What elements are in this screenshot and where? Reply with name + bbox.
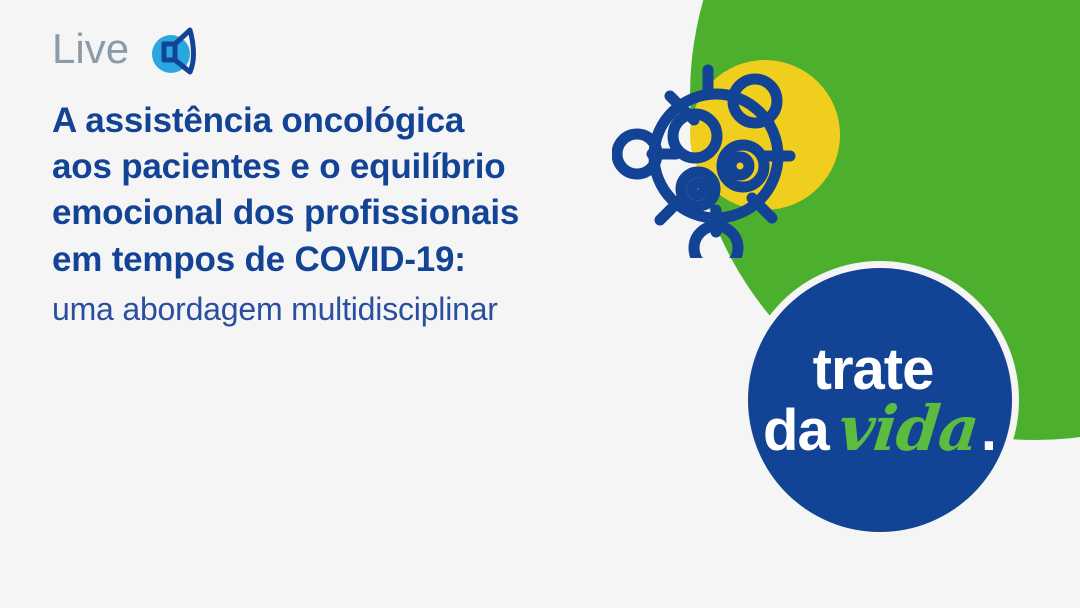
headline-line-1: A assistência oncológica xyxy=(52,98,652,144)
headline-line-3: emocional dos profissionais xyxy=(52,190,652,236)
promo-banner: trate da vida . Live A assistência oncol… xyxy=(0,0,1080,608)
logo-line-two: da vida . xyxy=(763,400,997,457)
live-label: Live xyxy=(52,28,129,70)
brand-logo: trate da vida . xyxy=(748,268,1012,532)
megaphone-icon xyxy=(145,20,203,78)
text-column: Live A assistência oncológica aos pacien… xyxy=(52,18,652,330)
page-subtitle: uma abordagem multidisciplinar xyxy=(52,289,652,331)
headline-line-2: aos pacientes e o equilíbrio xyxy=(52,144,652,190)
logo-period: . xyxy=(981,404,997,457)
logo-word-vida: vida xyxy=(836,400,981,457)
logo-word-da: da xyxy=(763,404,829,457)
live-badge: Live xyxy=(52,18,652,80)
logo-line-one: trate xyxy=(827,343,934,396)
headline-line-4: em tempos de COVID-19: xyxy=(52,237,652,283)
page-title: A assistência oncológica aos pacientes e… xyxy=(52,98,652,283)
logo-word-trate: trate xyxy=(813,343,934,396)
